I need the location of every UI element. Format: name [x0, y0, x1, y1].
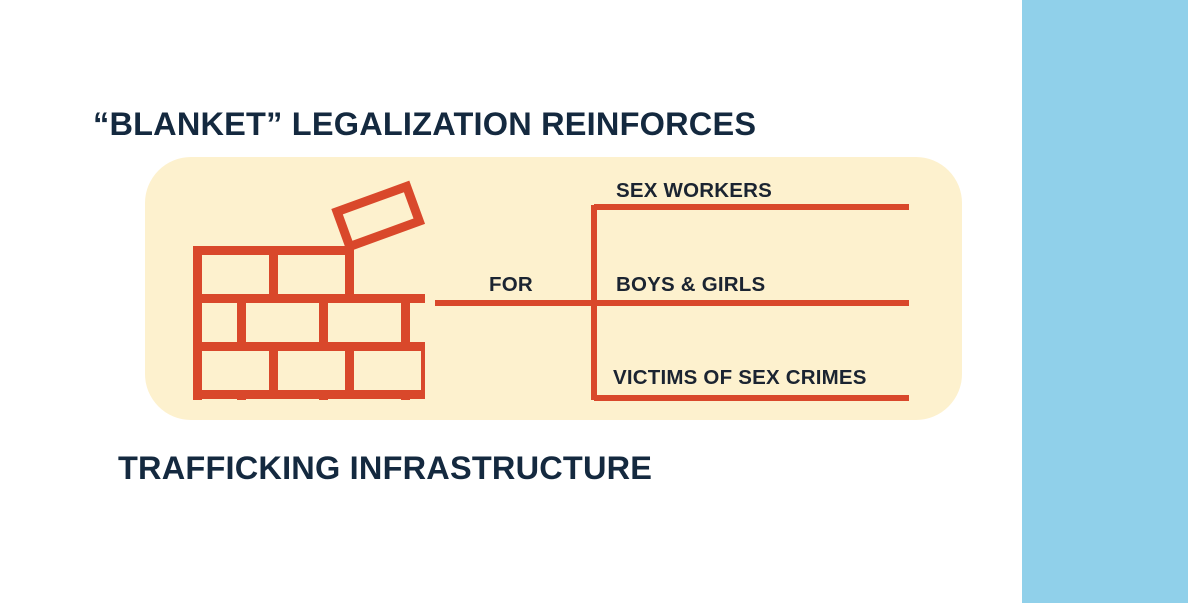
branch-label-victims-of-sex-crimes: VICTIMS OF SEX CRIMES	[613, 366, 867, 390]
brick-wall-illustration	[193, 178, 425, 400]
slide-canvas: “BLANKET” LEGALIZATION REINFORCES	[0, 0, 1188, 603]
blue-accent-band	[1022, 0, 1188, 603]
falling-brick-shape	[337, 186, 419, 246]
headline-top: “BLANKET” LEGALIZATION REINFORCES	[93, 106, 756, 143]
connector-label-for: FOR	[489, 273, 533, 297]
branch-label-boys-girls: BOYS & GIRLS	[616, 273, 765, 297]
branch-label-sex-workers: SEX WORKERS	[616, 179, 772, 203]
headline-bottom: TRAFFICKING INFRASTRUCTURE	[118, 450, 652, 487]
